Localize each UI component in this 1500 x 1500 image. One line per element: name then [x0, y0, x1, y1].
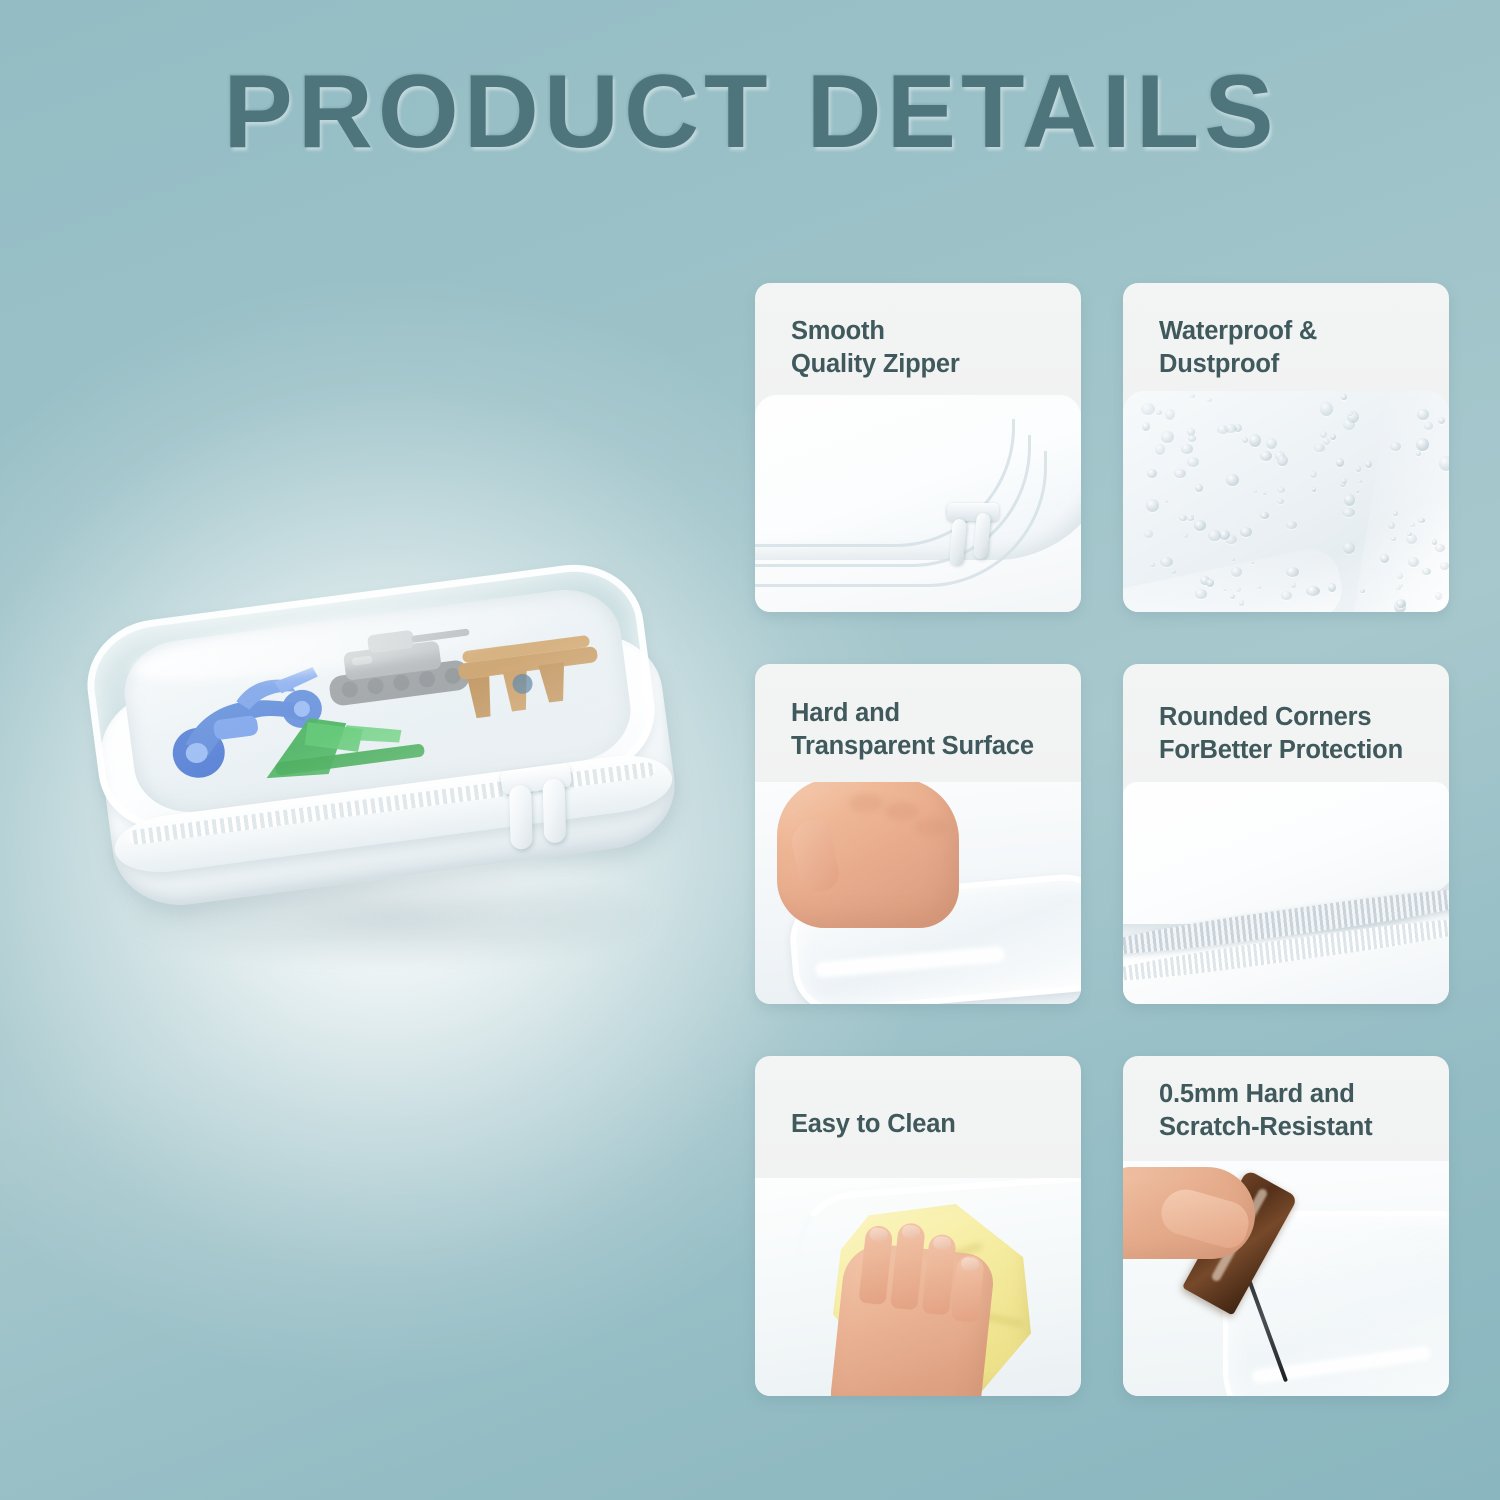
- water-droplet: [1277, 455, 1288, 467]
- water-droplet: [1356, 466, 1362, 472]
- fist-pressing-lid-photo: [755, 782, 1081, 1004]
- water-droplet: [1206, 579, 1214, 587]
- water-droplet: [1323, 438, 1330, 445]
- water-droplet: [1277, 499, 1284, 505]
- water-droplet: [1263, 492, 1266, 496]
- water-droplet: [1440, 562, 1449, 570]
- water-droplet: [1242, 437, 1248, 443]
- card-title: Waterproof & Dustproof: [1159, 315, 1437, 380]
- thumb: [788, 817, 842, 896]
- hero-product-photo: [60, 540, 720, 1040]
- water-droplet: [1224, 424, 1237, 434]
- water-droplet: [1142, 422, 1150, 431]
- water-droplet: [1250, 562, 1254, 565]
- water-droplet: [1179, 515, 1187, 522]
- water-droplet: [1391, 537, 1396, 541]
- water-droplet: [1207, 398, 1213, 402]
- water-droplet: [1393, 511, 1399, 516]
- water-droplet: [1396, 586, 1401, 590]
- water-droplet: [1286, 567, 1300, 577]
- water-droplet: [1260, 512, 1269, 519]
- water-droplet: [1226, 474, 1239, 486]
- water-droplet: [1408, 557, 1419, 567]
- feature-card-rounded-corners[interactable]: Rounded Corners ForBetter Protection: [1123, 664, 1449, 1004]
- knuckle: [885, 802, 919, 820]
- water-droplet: [1146, 499, 1159, 512]
- water-droplet: [1306, 586, 1320, 596]
- water-droplet: [1336, 458, 1344, 467]
- water-droplet: [1407, 532, 1412, 536]
- feature-card-waterproof-dustproof[interactable]: Waterproof & Dustproof: [1123, 283, 1449, 612]
- water-droplet: [1187, 516, 1194, 521]
- knife-scratching-surface-photo: [1123, 1161, 1449, 1396]
- white-zipper-corner-photo: [755, 395, 1081, 612]
- water-droplets-on-surface-photo: [1123, 391, 1449, 612]
- fingernail: [869, 1227, 888, 1242]
- water-droplet: [1320, 402, 1333, 416]
- water-droplet: [1147, 469, 1157, 478]
- water-droplet: [1341, 478, 1347, 483]
- water-droplet: [1390, 442, 1401, 451]
- water-droplet: [1187, 457, 1199, 467]
- case-zipper-pull-right: [543, 779, 567, 844]
- water-droplet: [1253, 490, 1257, 494]
- feature-card-easy-to-clean[interactable]: Easy to Clean: [755, 1056, 1081, 1396]
- feature-card-grid: Smooth Quality Zipper Waterproof & Dustp…: [755, 283, 1449, 1383]
- water-droplet: [1260, 451, 1272, 461]
- water-droplet: [1188, 435, 1196, 442]
- water-droplet: [1161, 431, 1175, 443]
- water-droplet: [1380, 554, 1389, 563]
- water-droplet: [1195, 589, 1207, 598]
- water-droplet: [1281, 591, 1292, 600]
- zipper-slider: [947, 503, 999, 521]
- case-edge-highlight: [1346, 391, 1449, 612]
- water-droplet: [1190, 394, 1195, 398]
- water-droplet: [1171, 570, 1176, 574]
- water-droplet: [1165, 409, 1175, 420]
- card-title: Rounded Corners ForBetter Protection: [1159, 701, 1437, 766]
- fingernail: [960, 1257, 979, 1272]
- water-droplet: [1344, 494, 1356, 506]
- water-droplet: [1257, 586, 1261, 589]
- page-title: PRODUCT DETAILS: [236, 58, 1266, 166]
- water-droplet: [1231, 567, 1242, 577]
- zipper-seam-line: [755, 451, 1047, 587]
- lid-gloss-highlight: [129, 588, 562, 696]
- water-droplet: [1439, 456, 1450, 471]
- water-droplet: [1358, 480, 1362, 483]
- water-droplet: [1191, 514, 1194, 517]
- water-droplet: [1365, 461, 1372, 468]
- water-droplet: [1360, 589, 1365, 593]
- water-droplet: [1181, 444, 1193, 454]
- water-droplet: [1156, 410, 1163, 415]
- water-droplet: [1416, 451, 1422, 456]
- wiping-hand: [828, 1241, 996, 1396]
- case-bottom-edge: [1123, 544, 1347, 612]
- fist-hand: [777, 782, 959, 928]
- water-droplet: [1314, 444, 1325, 452]
- water-droplet: [1240, 527, 1252, 537]
- card-title: 0.5mm Hard and Scratch-Resistant: [1159, 1078, 1437, 1143]
- knuckle: [915, 818, 949, 836]
- water-droplet: [1160, 557, 1173, 567]
- rounded-corner-zipper-photo: [1123, 782, 1449, 1004]
- feature-card-smooth-quality-zipper[interactable]: Smooth Quality Zipper: [755, 283, 1081, 612]
- case-zipper-pull-left: [509, 785, 533, 850]
- water-droplet: [1356, 490, 1359, 493]
- feature-card-hard-transparent-surface[interactable]: Hard and Transparent Surface: [755, 664, 1081, 1004]
- water-droplet: [1397, 573, 1403, 579]
- card-title: Hard and Transparent Surface: [791, 697, 1069, 762]
- water-droplet: [1343, 419, 1355, 430]
- water-droplet: [1330, 434, 1336, 440]
- water-droplet: [1236, 587, 1241, 592]
- water-droplet: [1348, 411, 1353, 416]
- water-droplet: [1194, 520, 1206, 531]
- knuckle: [849, 794, 883, 812]
- water-droplet: [1341, 394, 1347, 400]
- water-droplet: [1343, 542, 1355, 554]
- water-droplet: [1219, 530, 1230, 540]
- water-droplet: [1286, 521, 1297, 529]
- water-droplet: [1249, 434, 1261, 447]
- feature-card-scratch-resistant[interactable]: 0.5mm Hard and Scratch-Resistant: [1123, 1056, 1449, 1396]
- water-droplet: [1174, 469, 1187, 478]
- water-droplet: [1150, 563, 1155, 567]
- water-droplet: [1144, 530, 1153, 539]
- water-droplet: [1195, 484, 1203, 492]
- product-details-infographic: PRODUCT DETAILS: [0, 0, 1500, 1500]
- water-droplet: [1183, 533, 1188, 538]
- water-droplet: [1232, 558, 1235, 561]
- water-droplet: [1410, 523, 1415, 527]
- water-droplet: [1266, 438, 1277, 449]
- card-title: Smooth Quality Zipper: [791, 315, 1069, 380]
- hand-wiping-with-yellow-cloth-photo: [755, 1178, 1081, 1396]
- water-droplet: [1165, 500, 1168, 503]
- water-droplet: [1396, 599, 1406, 608]
- water-droplet: [1342, 508, 1355, 518]
- fingernail: [932, 1236, 951, 1251]
- water-droplet: [1155, 444, 1166, 455]
- water-droplet: [1435, 544, 1445, 552]
- water-droplet: [1141, 403, 1155, 415]
- water-droplet: [1291, 582, 1296, 588]
- water-droplet: [1208, 530, 1220, 542]
- card-title: Easy to Clean: [791, 1108, 1069, 1141]
- water-droplet: [1310, 471, 1317, 478]
- water-droplet: [1422, 568, 1431, 575]
- water-droplet: [1312, 487, 1316, 492]
- fingernail: [901, 1224, 920, 1239]
- water-droplet: [1416, 438, 1428, 451]
- water-droplet: [1328, 583, 1336, 592]
- water-droplet: [1277, 487, 1286, 493]
